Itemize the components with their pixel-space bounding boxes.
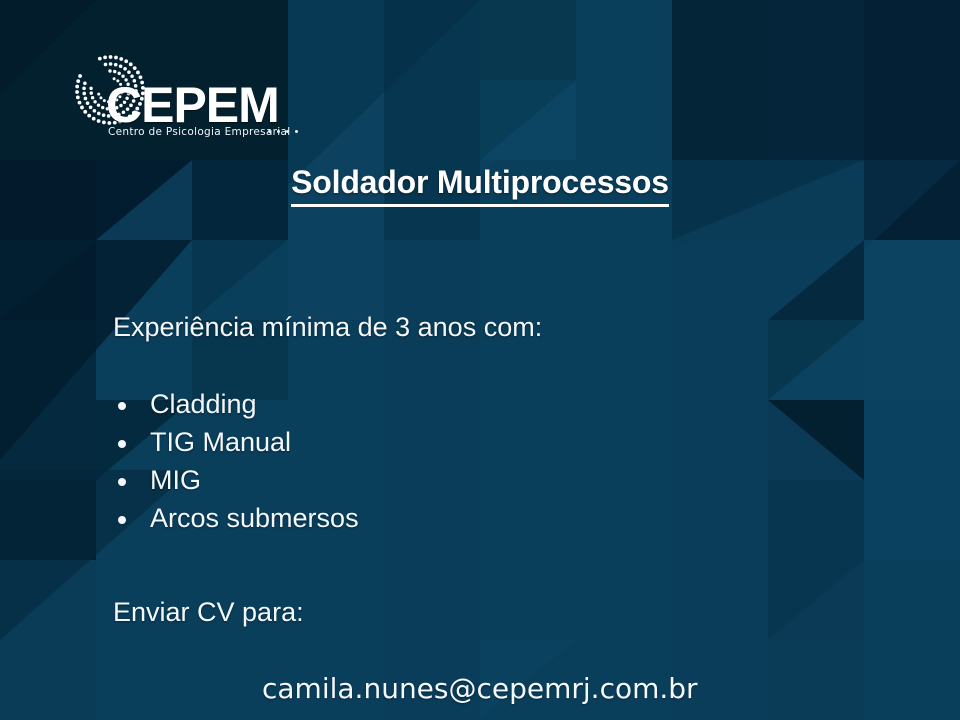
page-title-text: Soldador Multiprocessos <box>291 164 669 207</box>
presentation-slide: CEPEM Centro de Psicologia Empresarial S… <box>0 0 960 720</box>
bullet-dot-icon <box>118 516 126 524</box>
send-cv-label: Enviar CV para: <box>113 597 304 628</box>
list-item-label: Arcos submersos <box>150 503 359 533</box>
requirements-list: Cladding TIG Manual MIG Arcos submersos <box>113 390 359 543</box>
requirements-intro: Experiência mínima de 3 anos com: <box>113 312 542 343</box>
bullet-dot-icon <box>118 478 126 486</box>
list-item: Cladding <box>113 390 359 419</box>
list-item-label: MIG <box>150 465 201 495</box>
list-item-label: Cladding <box>150 389 257 419</box>
bullet-dot-icon <box>118 440 126 448</box>
slide-content: Soldador Multiprocessos Experiência míni… <box>0 0 960 720</box>
page-title: Soldador Multiprocessos <box>0 164 960 201</box>
bullet-dot-icon <box>118 402 126 410</box>
list-item-label: TIG Manual <box>150 427 291 457</box>
list-item: TIG Manual <box>113 428 359 457</box>
list-item: Arcos submersos <box>113 504 359 533</box>
contact-email[interactable]: camila.nunes@cepemrj.com.br <box>262 672 698 705</box>
list-item: MIG <box>113 466 359 495</box>
